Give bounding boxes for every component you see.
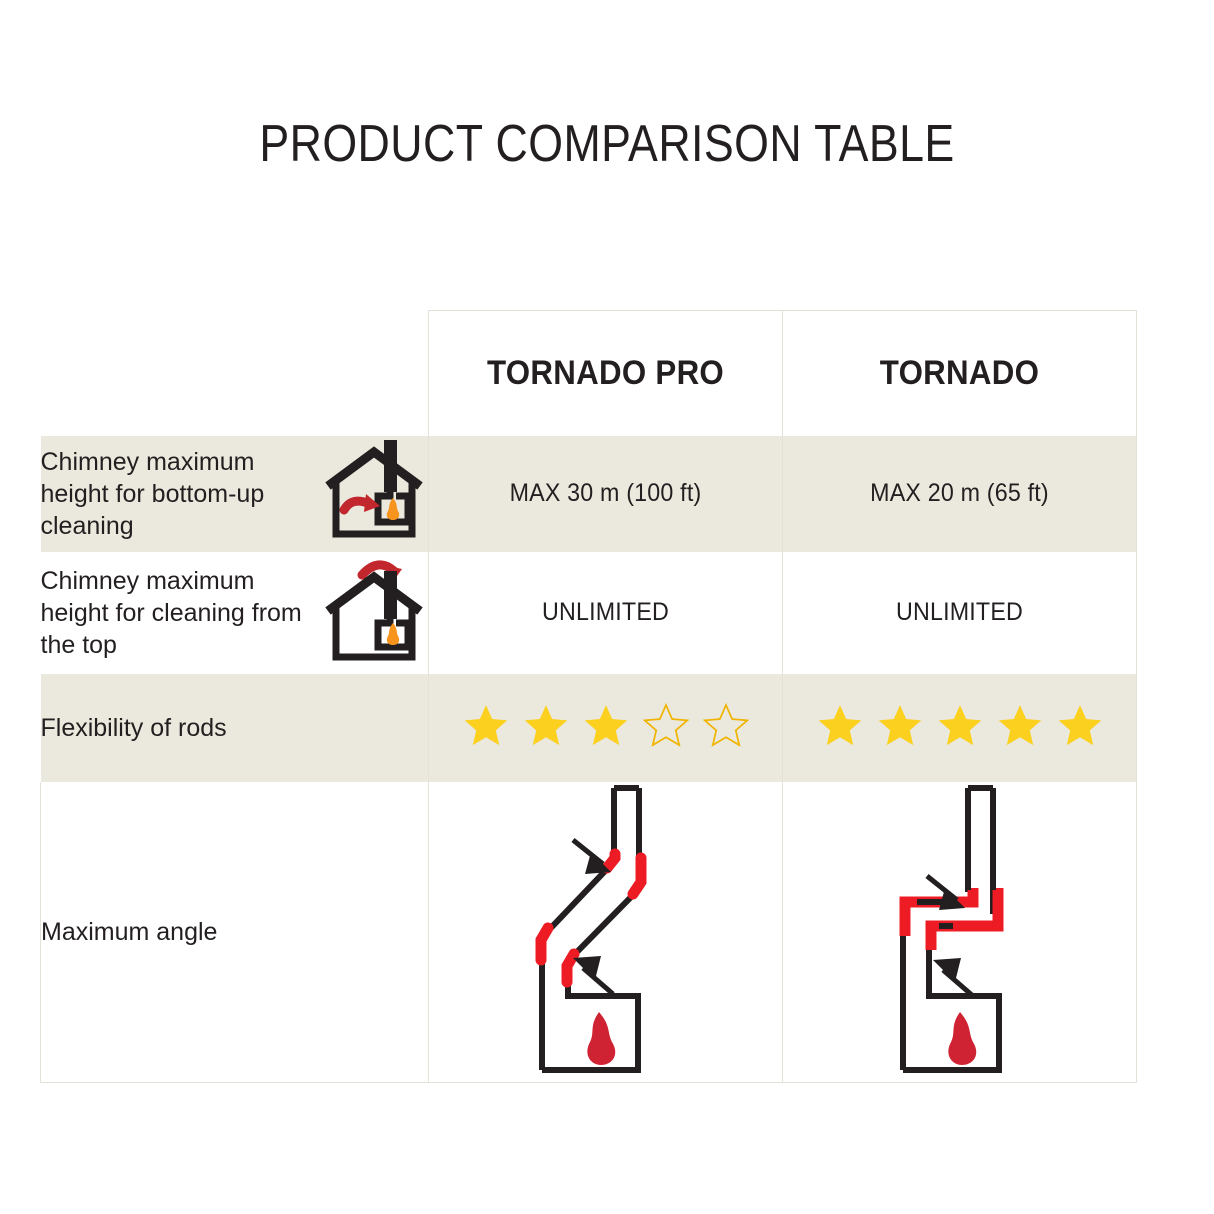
star-filled-icon [583,702,629,753]
diagram-cell-tornado [783,782,1137,1083]
row-label-text: Maximum angle [41,916,331,948]
row-label-top-cleaning: Chimney maximum height for cleaning from… [41,552,429,674]
house-top-down-cleaning-icon [322,553,426,673]
diagram-cell-tornado-pro [429,782,783,1083]
star-filled-icon [1057,702,1103,753]
row-label-text: Chimney maximum height for bottom-up cle… [41,446,323,542]
value-text: MAX 30 m (100 ft) [441,479,769,508]
chimney-flue-right-angle-bend-diagram [865,784,1055,1079]
header-cell-tornado: TORNADO [783,311,1137,436]
arrow-lower-icon [573,956,613,994]
table-row: Flexibility of rods [41,674,1137,782]
star-filled-icon [523,702,569,753]
value-cell-tornado-pro-height-top: UNLIMITED [429,552,783,674]
page-title: PRODUCT COMPARISON TABLE [85,114,1129,174]
house-bottom-up-cleaning-icon [322,438,426,550]
row-label-maximum-angle: Maximum angle [41,782,429,1083]
star-rating-tornado [783,702,1136,753]
header-label-cell [41,311,429,436]
value-cell-tornado-pro-height-bottom-up: MAX 30 m (100 ft) [429,436,783,552]
arrow-upper-icon [573,840,611,874]
star-rating-tornado-pro [429,702,782,753]
rating-cell-tornado-pro [429,674,783,782]
value-text: UNLIMITED [795,598,1123,627]
product-name-tornado: TORNADO [797,354,1122,393]
table-row: Chimney maximum height for cleaning from… [41,552,1137,674]
value-text: MAX 20 m (65 ft) [795,479,1123,508]
star-empty-icon [643,702,689,753]
table-header-row: TORNADO PRO TORNADO [41,311,1137,436]
star-filled-icon [997,702,1043,753]
arrow-lower-icon [933,958,973,996]
rating-cell-tornado [783,674,1137,782]
flame-icon [587,1012,615,1065]
table-row: Maximum angle [41,782,1137,1083]
row-label-flexibility: Flexibility of rods [41,674,429,782]
star-filled-icon [937,702,983,753]
header-cell-tornado-pro: TORNADO PRO [429,311,783,436]
value-cell-tornado-height-bottom-up: MAX 20 m (65 ft) [783,436,1137,552]
row-label-text: Flexibility of rods [41,712,331,744]
value-text: UNLIMITED [441,598,769,627]
flame-icon [948,1012,976,1065]
row-label-bottom-up-cleaning: Chimney maximum height for bottom-up cle… [41,436,429,552]
value-cell-tornado-height-top: UNLIMITED [783,552,1137,674]
row-label-text: Chimney maximum height for cleaning from… [41,565,323,661]
star-filled-icon [877,702,923,753]
star-filled-icon [817,702,863,753]
product-name-tornado-pro: TORNADO PRO [443,354,768,393]
product-comparison-table: TORNADO PRO TORNADO Chimney maximum heig… [40,310,1136,1082]
star-empty-icon [703,702,749,753]
chimney-flue-diagonal-bend-diagram [511,784,701,1079]
table-row: Chimney maximum height for bottom-up cle… [41,436,1137,552]
star-filled-icon [463,702,509,753]
